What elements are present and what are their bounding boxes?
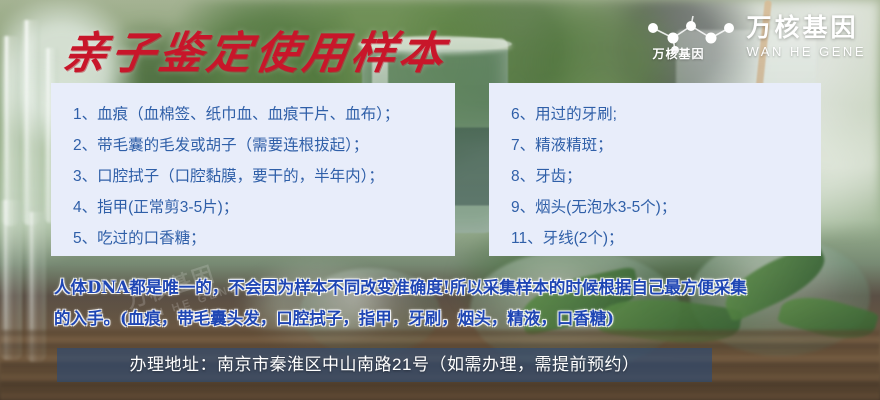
- list-item: 1、血痕（血棉签、纸巾血、血痕干片、血布）；: [73, 99, 445, 130]
- sample-list-left: 1、血痕（血棉签、纸巾血、血痕干片、血布）； 2、带毛囊的毛发或胡子（需要连根拔…: [73, 99, 445, 254]
- list-item: 3、口腔拭子（口腔黏膜，要干的，半年内）；: [73, 161, 445, 192]
- poster-canvas: 万核基因 WAN HE GENE 万核基因 WAN HE GENE 万核基因 W…: [0, 0, 880, 400]
- page-title: 亲子鉴定使用样本: [59, 17, 453, 81]
- sample-list-panel-left: 1、血痕（血棉签、纸巾血、血痕干片、血布）； 2、带毛囊的毛发或胡子（需要连根拔…: [51, 83, 455, 256]
- note-line-1: 人体DNA都是唯一的，不会因为样本不同改变准确度!所以采集样本的时候根据自己最方…: [54, 272, 854, 303]
- note-paragraph: 人体DNA都是唯一的，不会因为样本不同改变准确度!所以采集样本的时候根据自己最方…: [54, 272, 854, 334]
- sample-list-panel-right: 6、用过的牙刷; 7、精液精斑； 8、牙齿； 9、烟头(无泡水3-5个)； 11…: [489, 83, 821, 256]
- brand-name-en: WAN HE GENE: [747, 44, 866, 59]
- logo-mark-label: 万核基因: [653, 45, 705, 62]
- brand-name-cn: 万核基因: [747, 15, 866, 41]
- brand-logo: 万核基因 万核基因 WAN HE GENE: [643, 14, 866, 60]
- list-item: 2、带毛囊的毛发或胡子（需要连根拔起）；: [73, 130, 445, 161]
- list-item: 11、牙线(2个)；: [511, 223, 811, 254]
- list-item: 7、精液精斑；: [511, 130, 811, 161]
- brand-name-block: 万核基因 WAN HE GENE: [747, 15, 866, 58]
- list-item: 5、吃过的口香糖；: [73, 223, 445, 254]
- note-line-2: 的入手。(血痕，带毛囊头发，口腔拭子，指甲，牙刷，烟头，精液，口香糖): [54, 303, 854, 334]
- list-item: 9、烟头(无泡水3-5个)；: [511, 192, 811, 223]
- list-item: 8、牙齿；: [511, 161, 811, 192]
- dna-molecule-icon: 万核基因: [643, 14, 737, 60]
- address-bar: 办理地址：南京市秦淮区中山南路21号（如需办理，需提前预约）: [57, 348, 712, 382]
- list-item: 6、用过的牙刷;: [511, 99, 811, 130]
- list-item: 4、指甲(正常剪3-5片)；: [73, 192, 445, 223]
- sample-list-right: 6、用过的牙刷; 7、精液精斑； 8、牙齿； 9、烟头(无泡水3-5个)； 11…: [511, 99, 811, 254]
